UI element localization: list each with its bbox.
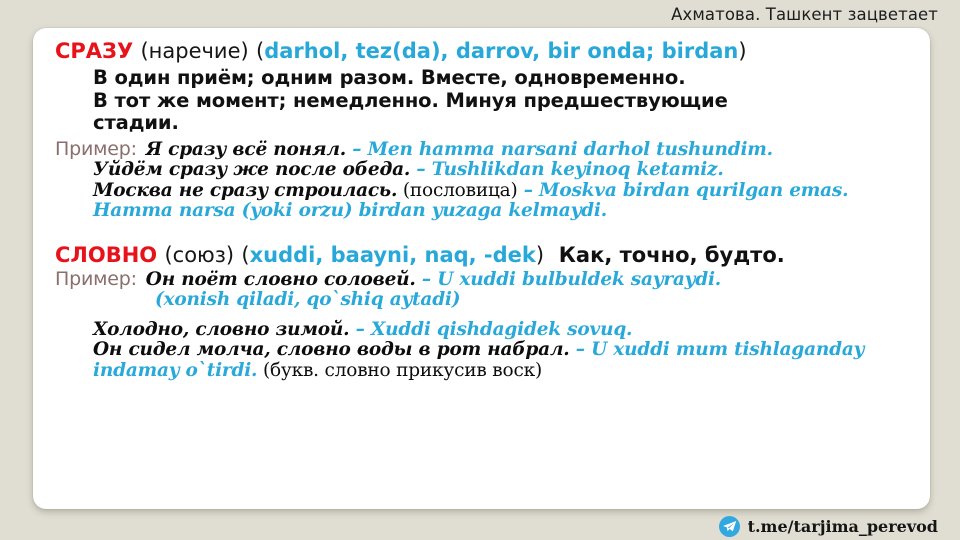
example-uzbek: U xuddi mum tishlaganday (591, 339, 864, 360)
definition-line: В один приём; одним разом. Вместе, однов… (47, 68, 916, 88)
headword-slovno: СЛОВНО (55, 243, 157, 267)
close-paren-slovno: ) (536, 243, 544, 267)
example-separator: – (570, 339, 592, 360)
section-spacer (47, 223, 916, 245)
example-uzbek: Men hamma narsani darhol tushundim. (368, 139, 773, 160)
example-row: (xonish qiladi, qo`shiq aytadi) (47, 291, 916, 310)
example-russian: Москва не сразу строилась. (93, 180, 397, 201)
example-uzbek: Hamma narsa (yoki orzu) birdan yuzaga ke… (93, 200, 607, 221)
example-row: Он сидел молча, словно воды в рот набрал… (47, 341, 916, 360)
example-row: Уйдём сразу же после обеда. – Tushlikdan… (47, 161, 916, 180)
example-row: indamay o`tirdi. (букв. словно прикусив … (47, 362, 916, 381)
open-paren-srazu: ( (256, 39, 264, 63)
example-row: Пример:Я сразу всё понял. – Men hamma na… (47, 140, 916, 160)
example-separator: – (346, 139, 368, 160)
open-paren-slovno: ( (241, 243, 249, 267)
example-row: Hamma narsa (yoki orzu) birdan yuzaga ke… (47, 202, 916, 221)
header-bar: Ахматова. Ташкент зацветает (0, 0, 960, 28)
example-uzbek: U xuddi bulbuldek sayraydi. (437, 269, 721, 290)
example-russian: Он поёт словно соловей. (146, 269, 416, 290)
part-of-speech-slovno: (союз) (164, 243, 234, 267)
example-row: Пример:Он поёт словно соловей. – U xuddi… (47, 270, 916, 290)
page-title: Ахматова. Ташкент зацветает (671, 5, 938, 24)
headword-srazu: СРАЗУ (55, 39, 133, 63)
example-russian: Я сразу всё понял. (146, 139, 346, 160)
example-row: Москва не сразу строилась. (пословица) –… (47, 182, 916, 201)
part-of-speech-srazu: (наречие) (140, 39, 248, 63)
definition-line: стадии. (47, 113, 916, 133)
example-note: (букв. словно прикусив воск) (257, 360, 542, 381)
example-uzbek: Xuddi qishdagidek sovuq. (371, 319, 632, 340)
example-russian: Уйдём сразу же после обеда. (93, 159, 410, 180)
example-separator: – (518, 180, 540, 201)
example-row: Холодно, словно зимой. – Xuddi qishdagid… (47, 321, 916, 340)
telegram-icon (719, 516, 740, 537)
footer-channel-label: t.me/tarjima_perevod (748, 517, 938, 536)
example-uzbek: (xonish qiladi, qo`shiq aytadi) (155, 289, 460, 310)
entry-headword-row-slovno: СЛОВНО (союз) (xuddi, baayni, naq, -dek)… (47, 245, 916, 266)
example-separator: – (349, 319, 371, 340)
example-uzbek: indamay o`tirdi. (93, 360, 257, 381)
footer-credit: t.me/tarjima_perevod (719, 516, 938, 537)
uzbek-equivalents-srazu: darhol, tez(da), darrov, bir onda; birda… (264, 39, 738, 63)
example-russian: Холодно, словно зимой. (93, 319, 349, 340)
example-russian: Он сидел молча, словно воды в рот набрал… (93, 339, 570, 360)
russian-gloss-slovno: Как, точно, будто. (559, 243, 785, 267)
close-paren-srazu: ) (738, 39, 746, 63)
example-note: (пословица) (397, 180, 517, 201)
example-uzbek: Tushlikdan keyinoq ketamiz. (432, 159, 724, 180)
uzbek-equivalents-slovno: xuddi, baayni, naq, -dek (250, 243, 536, 267)
example-label-srazu: Пример: (55, 138, 146, 160)
definition-line: В тот же момент; немедленно. Минуя предш… (47, 91, 916, 111)
example-label-slovno: Пример: (55, 268, 146, 290)
example-uzbek: Moskva birdan qurilgan emas. (539, 180, 848, 201)
entry-headword-row-srazu: СРАЗУ (наречие) (darhol, tez(da), darrov… (47, 41, 916, 62)
example-separator: – (410, 159, 432, 180)
example-separator: – (416, 269, 438, 290)
content-card: СРАЗУ (наречие) (darhol, tez(da), darrov… (33, 28, 930, 509)
